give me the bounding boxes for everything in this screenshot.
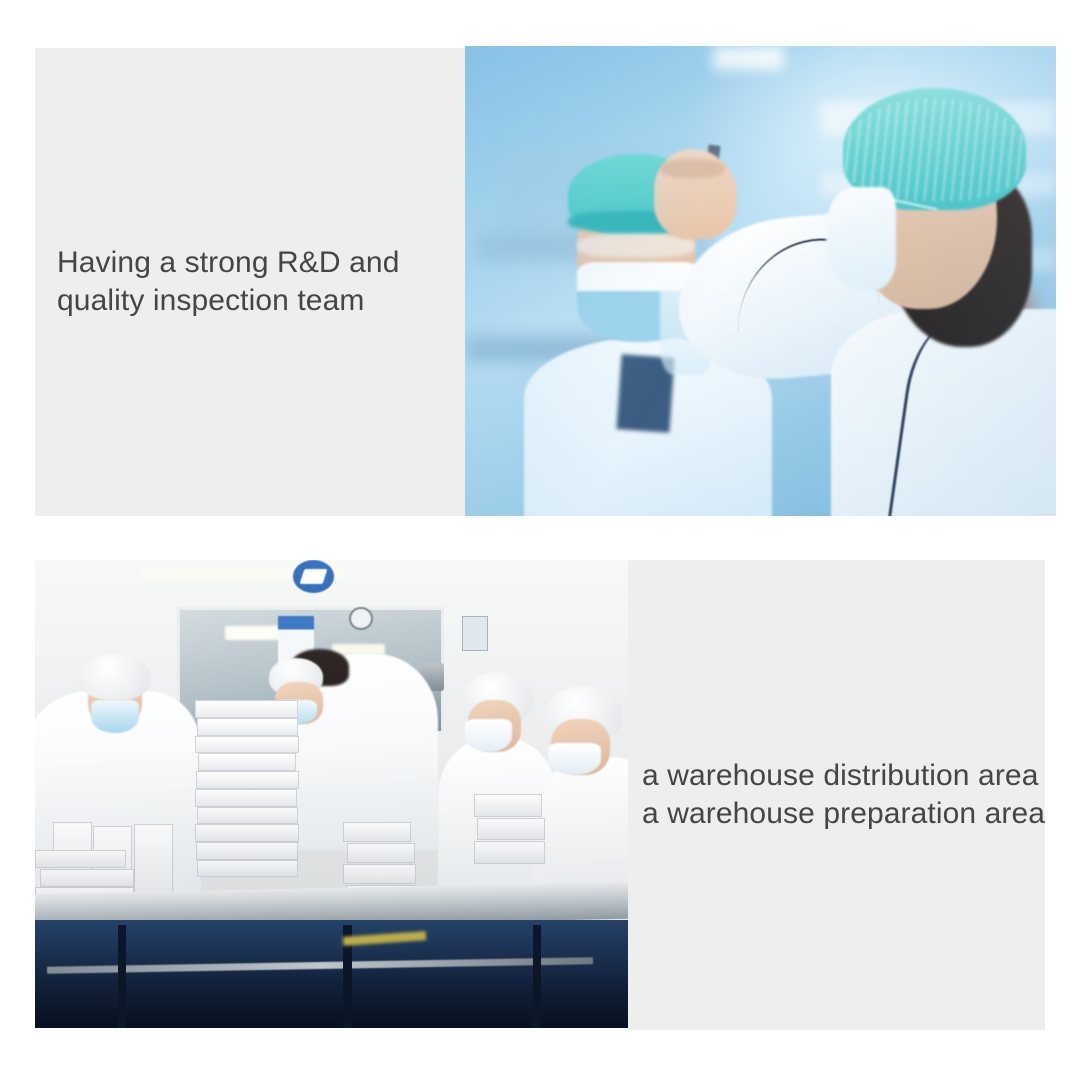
worker-a-face-mask <box>91 700 138 733</box>
carton <box>195 736 299 754</box>
worker-c-face-mask <box>465 719 512 752</box>
carton-stack-centre <box>195 700 302 897</box>
carton <box>197 718 297 736</box>
carton <box>196 842 297 860</box>
top-caption-text: Having a strong R&D and quality inspecti… <box>57 244 399 321</box>
lab-quality-inspection-photo <box>465 46 1056 516</box>
carton <box>198 753 296 771</box>
table-leg-1 <box>118 925 126 1028</box>
bottom-caption-line-1: a warehouse distribution area <box>642 757 1045 795</box>
top-caption-panel: Having a strong R&D and quality inspecti… <box>35 48 465 516</box>
technician-2-cap-texture <box>843 98 1026 201</box>
carton <box>474 794 542 817</box>
carton <box>196 771 298 789</box>
top-caption-line-2: quality inspection team <box>57 282 399 320</box>
bottom-caption-text: a warehouse distribution area a warehous… <box>642 757 1045 834</box>
wall-control-panel <box>462 616 488 651</box>
carton <box>195 824 299 842</box>
blue-circular-sign-icon <box>293 560 335 593</box>
bottom-caption-line-2: a warehouse preparation area <box>642 795 1045 833</box>
worker-a-hair-cap <box>79 654 150 701</box>
technician-2-fingers <box>660 159 725 178</box>
carton <box>343 822 411 842</box>
carton <box>347 843 415 863</box>
carton <box>477 818 545 841</box>
carton <box>197 860 297 878</box>
carton <box>40 869 134 887</box>
carton <box>195 789 296 807</box>
bottom-caption-panel: a warehouse distribution area a warehous… <box>628 560 1045 1030</box>
warehouse-packing-photo <box>35 560 628 1028</box>
ceiling-light <box>713 46 784 70</box>
carton <box>197 807 297 825</box>
carton <box>195 700 297 718</box>
carton <box>35 850 126 868</box>
technician-2-face-mask <box>826 187 897 290</box>
carton <box>474 841 545 864</box>
top-caption-line-1: Having a strong R&D and <box>57 244 399 282</box>
table-leg-3 <box>533 925 541 1028</box>
worker-d-face-mask <box>548 743 601 776</box>
carton <box>343 864 416 884</box>
